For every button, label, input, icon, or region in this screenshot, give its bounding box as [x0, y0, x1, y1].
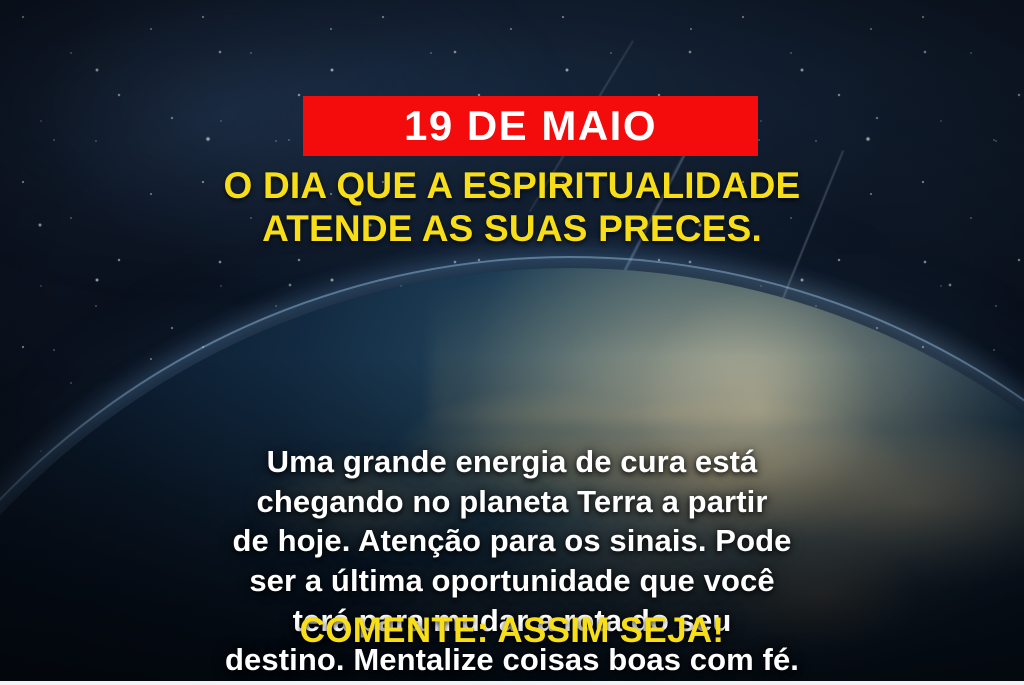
- headline: O DIA QUE A ESPIRITUALIDADE ATENDE AS SU…: [0, 165, 1024, 251]
- headline-line-2: ATENDE AS SUAS PRECES.: [0, 208, 1024, 251]
- body-line: chegando no planeta Terra a partir: [50, 482, 974, 522]
- date-banner: 19 DE MAIO: [303, 96, 758, 156]
- poster: 19 DE MAIO O DIA QUE A ESPIRITUALIDADE A…: [0, 0, 1024, 685]
- bottom-edge-strip: [0, 681, 1024, 685]
- call-to-action-text: COMENTE: ASSIM SEJA!: [0, 613, 1024, 648]
- body-line: ser a última oportunidade que você: [50, 561, 974, 601]
- poster-content: 19 DE MAIO O DIA QUE A ESPIRITUALIDADE A…: [0, 0, 1024, 685]
- body-line: de hoje. Atenção para os sinais. Pode: [50, 521, 974, 561]
- body-line: Uma grande energia de cura está: [50, 442, 974, 482]
- date-banner-text: 19 DE MAIO: [404, 105, 657, 147]
- headline-line-1: O DIA QUE A ESPIRITUALIDADE: [224, 165, 801, 206]
